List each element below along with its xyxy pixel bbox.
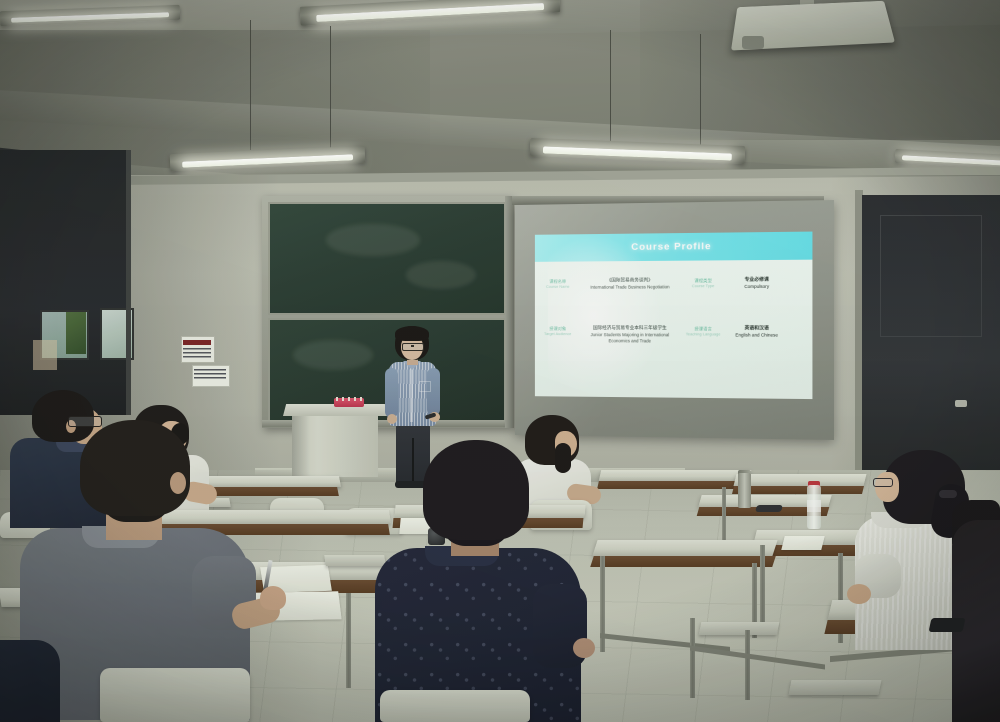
value-en: Compulsory — [727, 284, 787, 291]
light-wire — [250, 20, 251, 150]
door-edge — [126, 150, 131, 415]
value-en: Junior Students Majoring in Internationa… — [581, 332, 680, 345]
classroom-photo: Course Profile 课程名称 Course Name 《国际贸易商务谈… — [0, 0, 1000, 722]
desk-surface — [592, 540, 777, 556]
desk-front-panel — [590, 556, 776, 567]
presenter-fringe — [395, 326, 429, 341]
observer-dark-clothing-left — [0, 640, 60, 722]
bench-seat — [789, 680, 882, 695]
chair-backrest[interactable] — [380, 690, 530, 722]
marker-box-detail — [336, 397, 364, 401]
desk-leg — [760, 545, 765, 625]
desk-leg — [745, 630, 750, 700]
desk-front-panel — [597, 481, 749, 489]
desk-leg — [722, 487, 726, 547]
slide-value-course-type: 专业必修课 Compulsory — [727, 277, 787, 291]
slide-value-teaching-language: 英语和汉语 English and Chinese — [727, 325, 787, 339]
observer-hand — [573, 638, 595, 658]
presenter-shirt-placket — [410, 366, 413, 422]
door-panel — [880, 215, 982, 337]
observer-face — [875, 472, 899, 502]
slide-value-course-name: 《国际贸易商务谈判》 International Trade Business … — [581, 277, 680, 291]
projected-slide: Course Profile 课程名称 Course Name 《国际贸易商务谈… — [535, 231, 812, 399]
observer-hand — [847, 584, 871, 604]
label-en: Teaching Language — [679, 332, 727, 338]
presenter-arm-right — [427, 368, 440, 416]
value-cn: 国际经济与贸易专业本科三年级学生 — [581, 325, 680, 332]
slide-label-course-name: 课程名称 Course Name — [535, 278, 581, 291]
thermos-flask[interactable] — [738, 473, 751, 508]
desk-front-panel — [732, 486, 864, 494]
wall-notice-text — [183, 348, 211, 358]
phone-on-desk[interactable] — [929, 618, 966, 632]
observer-hair — [423, 440, 529, 540]
slide-row: 授课对象 Target Audience 国际经济与贸易专业本科三年级学生 Ju… — [535, 325, 812, 346]
wall-poster — [33, 340, 57, 370]
observer-ear — [170, 472, 186, 494]
hair-tie — [939, 490, 957, 498]
slide-label-target-audience: 授课对象 Target Audience — [535, 325, 581, 338]
bench-seat — [699, 622, 780, 635]
blackboard-upper-panel — [268, 202, 506, 315]
chair-backrest[interactable] — [100, 668, 250, 722]
light-wire — [610, 30, 611, 142]
label-en: Course Name — [535, 285, 581, 291]
slide-label-teaching-language: 授课语言 Teaching Language — [679, 325, 727, 338]
label-en: Course Type — [679, 284, 727, 290]
desk-leg — [690, 618, 695, 698]
desk-surface — [734, 474, 867, 486]
blackboard-side-frame — [505, 196, 514, 428]
foliage-outside — [66, 312, 86, 354]
paper-sheet[interactable] — [781, 536, 824, 550]
projection-screen: Course Profile 课程名称 Course Name 《国际贸易商务谈… — [515, 200, 834, 440]
value-en: English and Chinese — [727, 332, 787, 339]
desk-surface — [599, 470, 752, 481]
slide-value-target-audience: 国际经济与贸易专业本科三年级学生 Junior Students Majorin… — [581, 325, 680, 345]
eyeglasses-case[interactable] — [755, 505, 783, 512]
projector-glare — [548, 233, 662, 397]
projector-lens-icon — [742, 36, 764, 49]
presenter-shirt-pocket — [419, 381, 431, 392]
glasses-icon — [873, 478, 893, 487]
desk-leg — [346, 593, 351, 688]
value-en: International Trade Business Negotiation — [581, 284, 680, 291]
light-wire — [700, 34, 701, 146]
wall-notice-heading — [183, 340, 211, 345]
light-wire — [330, 26, 331, 152]
bottle-label — [807, 500, 821, 512]
wall-notice-text — [194, 369, 226, 381]
presenter-arm-left — [385, 368, 398, 418]
observer-hand — [260, 586, 286, 610]
glasses-bridge — [411, 345, 414, 347]
presenter-hand-left — [387, 414, 397, 424]
label-en: Target Audience — [535, 332, 581, 338]
door-handle-icon[interactable] — [955, 400, 967, 407]
slide-label-course-type: 课程类型 Course Type — [679, 277, 727, 290]
left-door[interactable] — [0, 150, 128, 415]
observer-hair — [80, 420, 190, 516]
observer-navy-patterned-shirt — [375, 440, 615, 722]
slide-row: 课程名称 Course Name 《国际贸易商务谈判》 Internationa… — [535, 277, 812, 292]
value-cn: 英语和汉语 — [727, 325, 787, 332]
